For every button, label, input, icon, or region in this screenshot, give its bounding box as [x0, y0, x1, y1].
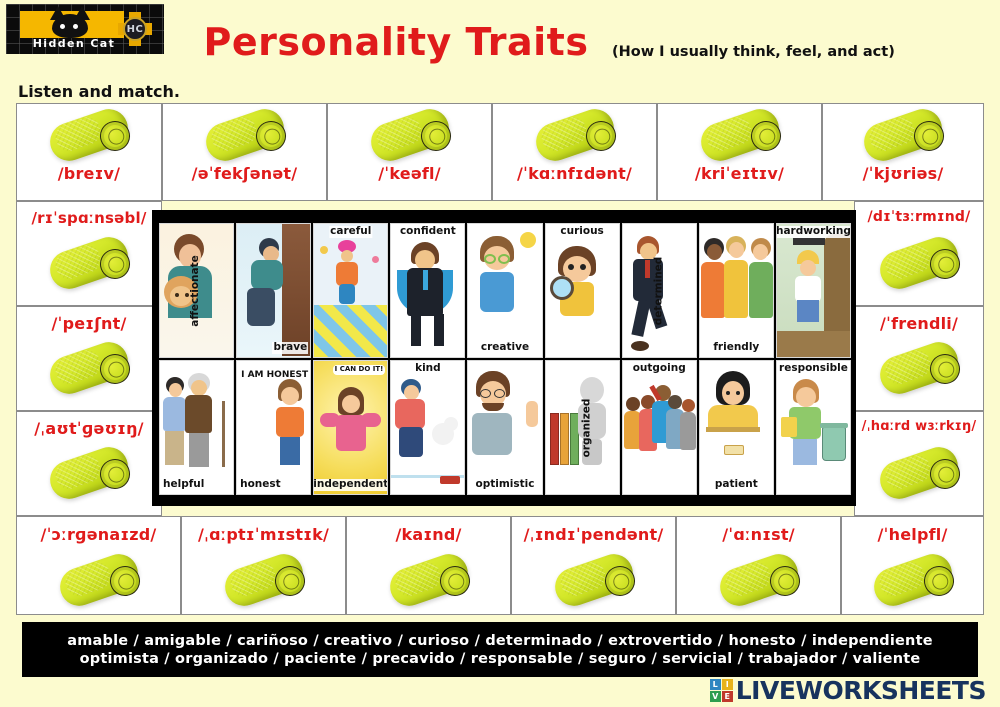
logo-name: Hidden Cat	[20, 37, 128, 50]
tile-i: I	[722, 679, 733, 690]
ipa-text: /ˌɪndɪˈpendənt/	[512, 525, 675, 544]
speaker-icon[interactable]	[869, 557, 957, 603]
audio-cell-creative[interactable]: /kriˈeɪtɪv/	[657, 103, 822, 201]
speaker-icon[interactable]	[715, 557, 803, 603]
picture-grid: affectionate brave	[159, 223, 851, 495]
ipa-text: /ˌɑːptɪˈmɪstɪk/	[182, 525, 345, 544]
picture-label: confident	[399, 226, 457, 238]
word-bank-line-2: optimista / organizado / paciente / prec…	[80, 651, 921, 667]
word-bank: amable / amigable / cariñoso / creativo …	[22, 622, 978, 677]
picture-card-kind[interactable]: kind	[390, 360, 465, 495]
audio-cell-optimistic[interactable]: /ˌɑːptɪˈmɪstɪk/	[181, 516, 346, 615]
hc-emblem-icon: HC	[118, 12, 152, 46]
ipa-text: /breɪv/	[17, 164, 161, 183]
picture-card-hardworking[interactable]: hardworking	[776, 223, 851, 358]
ipa-text: /ˈkjʊriəs/	[823, 164, 983, 183]
ipa-text: /ˌaʊtˈɡəʊɪŋ/	[17, 419, 161, 438]
picture-card-curious[interactable]: curious	[545, 223, 620, 358]
audio-cell-determined[interactable]: /dɪˈtɜːrmɪnd/	[854, 201, 984, 306]
picture-card-patient[interactable]: patient	[699, 360, 774, 495]
audio-cell-honest[interactable]: /ˈɑːnɪst/	[676, 516, 841, 615]
speaker-icon[interactable]	[859, 112, 947, 158]
liveworksheets-wordmark: LIVEWORKSHEETS	[736, 676, 986, 705]
speaker-icon[interactable]	[366, 112, 454, 158]
speaker-icon[interactable]	[696, 112, 784, 158]
page-subtitle: (How I usually think, feel, and act)	[612, 44, 895, 60]
speaker-icon[interactable]	[875, 450, 963, 496]
ipa-text: /rɪˈspɑːnsəbl/	[17, 209, 161, 227]
picture-card-optimistic[interactable]: optimistic	[467, 360, 542, 495]
picture-card-determined[interactable]: determined	[622, 223, 697, 358]
audio-cell-kind[interactable]: /kaɪnd/	[346, 516, 511, 615]
picture-card-brave[interactable]: brave	[236, 223, 311, 358]
speaker-icon[interactable]	[875, 240, 963, 286]
tile-l: L	[710, 679, 721, 690]
picture-card-helpful[interactable]: helpful	[159, 360, 234, 495]
ipa-text: /ˌhɑːrd wɜːrkɪŋ/	[855, 419, 983, 434]
picture-card-creative[interactable]: creative	[467, 223, 542, 358]
picture-card-independent[interactable]: I CAN DO IT! independent	[313, 360, 388, 495]
cat-icon	[49, 6, 91, 37]
audio-cell-careful[interactable]: /ˈkeəfl/	[327, 103, 492, 201]
picture-label: independent	[313, 479, 388, 491]
speaker-icon[interactable]	[201, 112, 289, 158]
audio-cell-brave[interactable]: /breɪv/	[16, 103, 162, 201]
picture-label: brave	[272, 342, 308, 354]
audio-cell-confident[interactable]: /ˈkɑːnfɪdənt/	[492, 103, 657, 201]
picture-card-friendly[interactable]: friendly	[699, 223, 774, 358]
picture-label: careful	[329, 226, 372, 238]
audio-cell-friendly[interactable]: /ˈfrendli/	[854, 306, 984, 411]
tile-e: E	[722, 691, 733, 702]
picture-label: organized	[581, 397, 593, 458]
audio-cell-outgoing[interactable]: /ˌaʊtˈɡəʊɪŋ/	[16, 411, 162, 516]
audio-cell-organized[interactable]: /ˈɔːrɡənaɪzd/	[16, 516, 181, 615]
picture-label: helpful	[162, 479, 205, 491]
audio-cell-curious[interactable]: /ˈkjʊriəs/	[822, 103, 984, 201]
picture-label: optimistic	[474, 479, 535, 491]
speaker-icon[interactable]	[45, 112, 133, 158]
audio-cell-affectionate[interactable]: /əˈfekʃənət/	[162, 103, 327, 201]
speaker-icon[interactable]	[220, 557, 308, 603]
honest-sign-text: I AM HONEST	[240, 371, 309, 381]
ipa-text: /ˈkeəfl/	[328, 164, 491, 183]
audio-cell-responsible[interactable]: /rɪˈspɑːnsəbl/	[16, 201, 162, 306]
picture-panel: affectionate brave	[152, 210, 856, 506]
word-bank-line-1: amable / amigable / cariñoso / creativo …	[67, 633, 933, 649]
picture-card-outgoing[interactable]: outgoing	[622, 360, 697, 495]
ipa-text: /ˈɔːrɡənaɪzd/	[17, 525, 180, 544]
picture-label: friendly	[712, 342, 760, 354]
picture-label: affectionate	[190, 254, 202, 327]
speaker-icon[interactable]	[55, 557, 143, 603]
ipa-text: /ˈhelpfl/	[842, 525, 983, 544]
independent-bubble-text: I CAN DO IT!	[333, 365, 386, 375]
instruction-text: Listen and match.	[18, 82, 180, 101]
audio-cell-independent[interactable]: /ˌɪndɪˈpendənt/	[511, 516, 676, 615]
ipa-text: /ˈkɑːnfɪdənt/	[493, 164, 656, 183]
speaker-icon[interactable]	[385, 557, 473, 603]
picture-label: creative	[480, 342, 530, 354]
ipa-text: /ˈfrendli/	[855, 314, 983, 333]
speaker-icon[interactable]	[550, 557, 638, 603]
picture-label: curious	[559, 226, 604, 238]
ipa-text: /kaɪnd/	[347, 525, 510, 544]
picture-label: honest	[239, 479, 282, 491]
speaker-icon[interactable]	[45, 240, 133, 286]
picture-label: outgoing	[632, 363, 687, 375]
speaker-icon[interactable]	[45, 345, 133, 391]
ipa-text: /kriˈeɪtɪv/	[658, 164, 821, 183]
picture-card-confident[interactable]: confident	[390, 223, 465, 358]
picture-card-organized[interactable]: organized	[545, 360, 620, 495]
ipa-text: /ˈpeɪʃnt/	[17, 314, 161, 333]
worksheet-page: Hidden Cat HC Personality Traits (How I …	[0, 0, 1000, 707]
tile-v: V	[710, 691, 721, 702]
ipa-text: /ˈɑːnɪst/	[677, 525, 840, 544]
hidden-cat-logo: Hidden Cat HC	[6, 4, 164, 54]
speaker-icon[interactable]	[875, 345, 963, 391]
audio-cell-hardworking[interactable]: /ˌhɑːrd wɜːrkɪŋ/	[854, 411, 984, 516]
picture-label: kind	[414, 363, 442, 375]
emblem-text: HC	[123, 17, 147, 41]
picture-label: patient	[714, 479, 759, 491]
picture-card-responsible[interactable]: responsible	[776, 360, 851, 495]
picture-label: determined	[654, 255, 666, 326]
page-title: Personality Traits	[196, 20, 596, 64]
speaker-icon[interactable]	[531, 112, 619, 158]
audio-cell-patient[interactable]: /ˈpeɪʃnt/	[16, 306, 162, 411]
picture-card-honest[interactable]: I AM HONEST honest	[236, 360, 311, 495]
picture-card-affectionate[interactable]: affectionate	[159, 223, 234, 358]
audio-cell-helpful[interactable]: /ˈhelpfl/	[841, 516, 984, 615]
picture-card-careful[interactable]: careful	[313, 223, 388, 358]
ipa-text: /əˈfekʃənət/	[163, 164, 326, 183]
picture-label: responsible	[778, 363, 849, 375]
picture-label: hardworking	[776, 226, 851, 238]
ipa-text: /dɪˈtɜːrmɪnd/	[855, 209, 983, 225]
liveworksheets-tiles-icon: L I V E	[710, 679, 733, 702]
liveworksheets-logo: L I V E LIVEWORKSHEETS	[710, 676, 986, 705]
speaker-icon[interactable]	[45, 450, 133, 496]
